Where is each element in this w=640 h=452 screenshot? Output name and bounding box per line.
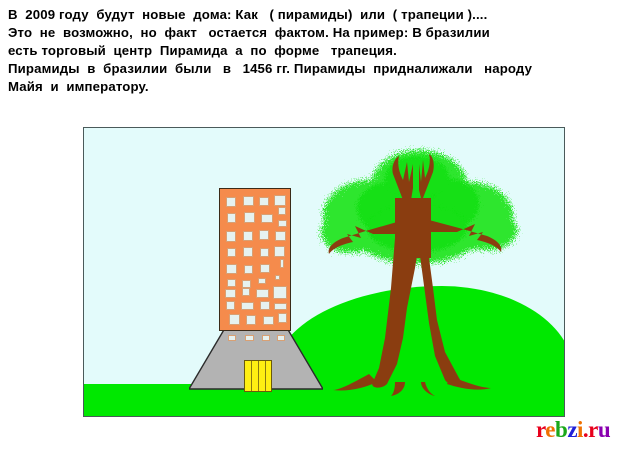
tower-window <box>278 220 287 227</box>
tower-window <box>244 212 255 223</box>
tower-window <box>228 335 236 341</box>
essay-line: Это не возможно, но факт остается фактом… <box>8 24 634 42</box>
tower-window <box>262 335 270 341</box>
door-bar <box>258 361 259 391</box>
watermark-rebzi-ru: rebzi.ru <box>536 418 610 442</box>
door-bar <box>265 361 266 391</box>
tower-window <box>227 248 236 257</box>
tower-window <box>261 214 273 223</box>
brown-tree-with-green-foliage <box>299 138 539 398</box>
tower-window <box>241 302 254 310</box>
tower-window <box>259 197 269 206</box>
yellow-door <box>244 360 272 392</box>
tower-window <box>259 230 269 240</box>
tower-window <box>258 278 266 284</box>
tower-window <box>274 303 287 310</box>
essay-line: есть торговый центр Пирамида а по форме … <box>8 42 634 60</box>
watermark-letter: z <box>567 417 577 442</box>
tower-window <box>243 247 253 257</box>
tower-window <box>229 314 240 325</box>
tower-window <box>278 313 287 323</box>
tower-window <box>242 288 250 296</box>
tower-window <box>280 259 284 268</box>
tower-window <box>274 246 285 257</box>
tower-window <box>263 316 274 325</box>
orange-tower-building <box>219 188 291 331</box>
tower-window <box>260 264 270 273</box>
tower-window <box>275 231 286 241</box>
tower-window <box>227 213 236 223</box>
tower-window <box>226 231 236 242</box>
tower-window <box>277 335 285 341</box>
tower-window <box>260 248 269 257</box>
tower-window <box>256 289 269 298</box>
watermark-letter: r <box>588 417 598 442</box>
drawing-frame <box>83 127 565 417</box>
essay-line: В 2009 году будут новые дома: Как ( пира… <box>8 6 634 24</box>
tower-window <box>243 231 253 241</box>
essay-line: Майя и императору. <box>8 78 634 96</box>
tower-window <box>273 286 287 299</box>
door-bar <box>251 361 252 391</box>
tower-window <box>227 279 236 287</box>
essay-line: Пирамиды в бразилии были в 1456 гг. Пира… <box>8 60 634 78</box>
tower-window <box>225 289 236 298</box>
tower-window <box>226 301 235 310</box>
tower-window <box>243 196 254 206</box>
tower-window <box>226 197 236 207</box>
tower-window <box>244 265 253 274</box>
tower-window <box>274 195 286 206</box>
watermark-letter: u <box>598 417 610 442</box>
tower-window <box>246 315 256 325</box>
tower-window <box>275 275 280 280</box>
tower-window <box>226 264 237 274</box>
tower-window <box>245 335 254 341</box>
watermark-letter: e <box>545 417 555 442</box>
tower-window <box>278 207 286 215</box>
watermark-letter: b <box>555 417 567 442</box>
essay-text-block: В 2009 году будут новые дома: Как ( пира… <box>8 6 634 96</box>
tower-window <box>242 280 251 288</box>
watermark-letter: r <box>536 417 545 442</box>
tower-window <box>260 301 270 310</box>
